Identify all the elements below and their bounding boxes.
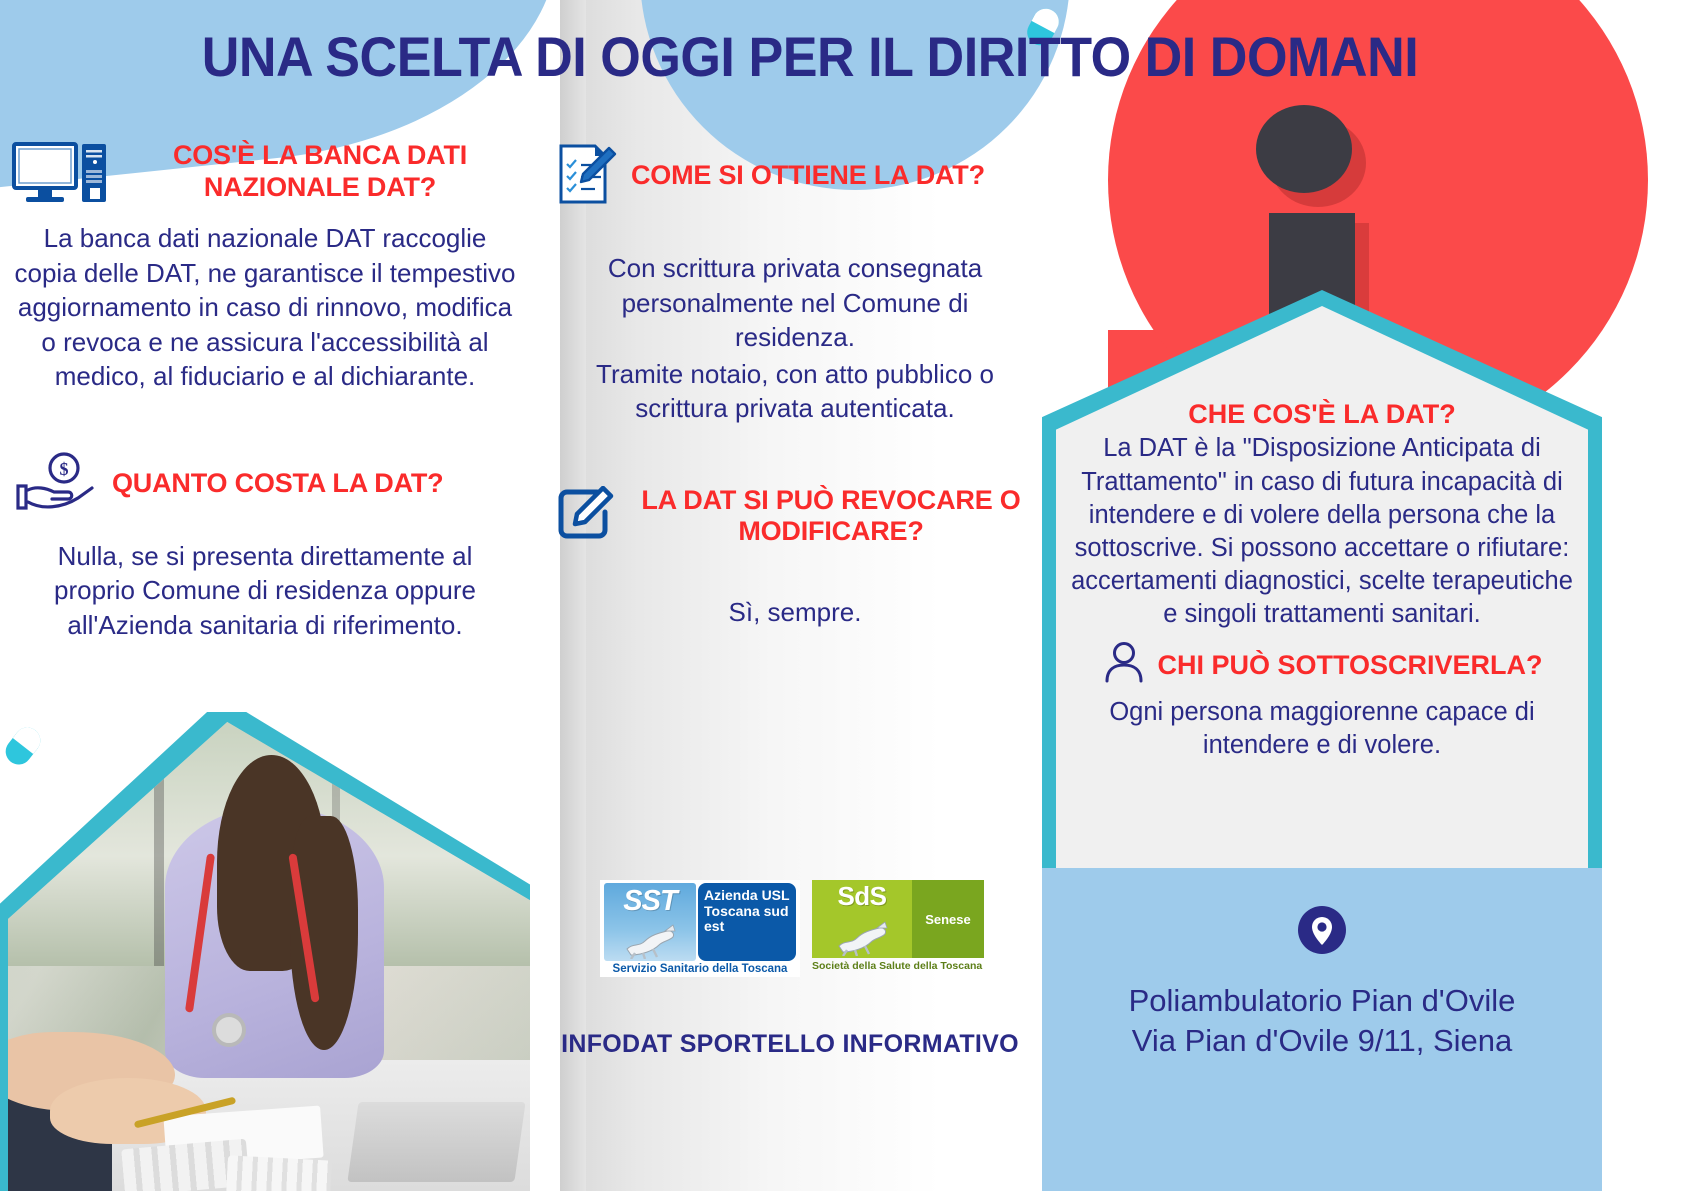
photo-pill-blister-2: [226, 1155, 332, 1191]
hand-holding-money-icon: $: [12, 450, 98, 517]
right-panel-content: CHE COS'È LA DAT? La DAT è la "Disposizi…: [1056, 398, 1588, 868]
logo-sds-mark-text: SdS: [837, 881, 886, 912]
left-section-1-heading: COS'È LA BANCA DATI NAZIONALE DAT?: [122, 140, 518, 204]
logo-sst-tagline: Servizio Sanitario della Toscana: [613, 963, 788, 975]
left-section-1-body: La banca dati nazionale DAT raccoglie co…: [0, 209, 530, 394]
right-panel-sub-heading: CHI PUÒ SOTTOSCRIVERLA?: [1157, 649, 1542, 681]
mid-section-1-heading: COME SI OTTIENE LA DAT?: [631, 159, 985, 191]
left-column: COS'È LA BANCA DATI NAZIONALE DAT? La ba…: [0, 140, 530, 643]
logo-sds-mark: SdS: [812, 880, 912, 958]
mid-section-1-header: COME SI OTTIENE LA DAT?: [545, 140, 1045, 211]
address-block: Poliambulatorio Pian d'Ovile Via Pian d'…: [1042, 880, 1602, 1180]
logo-sds-row: SdS Senese: [812, 880, 984, 958]
left-section-1-header: COS'È LA BANCA DATI NAZIONALE DAT?: [0, 140, 530, 209]
mid-section-1-body-line2: Tramite notaio, con atto pubblico o scri…: [545, 355, 1045, 426]
footer-note: INFODAT SPORTELLO INFORMATIVO: [540, 1030, 1040, 1059]
right-panel-heading: CHE COS'È LA DAT?: [1066, 398, 1578, 430]
right-panel-sub-header: CHI PUÒ SOTTOSCRIVERLA?: [1066, 639, 1578, 690]
mid-section-2-heading: LA DAT SI PUÒ REVOCARE O MODIFICARE?: [629, 485, 1033, 549]
brochure-poster: UNA SCELTA DI OGGI PER IL DIRITTO DI DOM…: [0, 0, 1684, 1191]
desktop-computer-icon: [12, 140, 108, 209]
logo-sst-name: Azienda USL Toscana sud est: [698, 883, 796, 961]
photo-stethoscope-bell: [212, 1013, 246, 1047]
photo-laptop: [347, 1102, 525, 1182]
person-icon: [1101, 639, 1147, 690]
mid-column: COME SI OTTIENE LA DAT? Con scrittura pr…: [545, 140, 1045, 629]
mid-section-2-header: LA DAT SI PUÒ REVOCARE O MODIFICARE?: [545, 484, 1045, 549]
left-section-2-body: Nulla, se si presenta direttamente al pr…: [0, 517, 530, 643]
logo-sds-tagline: Società della Salute della Toscana: [812, 960, 984, 972]
right-panel-body: La DAT è la "Disposizione Anticipata di …: [1066, 430, 1578, 631]
info-dot: [1256, 105, 1352, 193]
address-line-1: Poliambulatorio Pian d'Ovile: [1042, 967, 1602, 1021]
left-section-2-heading: QUANTO COSTA LA DAT?: [112, 467, 443, 499]
partner-logos: SST Azienda USL Toscana sud est Servizio…: [600, 880, 980, 990]
location-pin-icon: [1292, 949, 1352, 966]
logo-sst: SST Azienda USL Toscana sud est Servizio…: [600, 880, 800, 977]
svg-text:$: $: [60, 459, 69, 479]
pegasus-icon-sst: [619, 917, 681, 959]
logo-sds-name: Senese: [912, 880, 984, 958]
mid-section-2-body: Sì, sempre.: [545, 549, 1045, 630]
doctor-patient-photo: [0, 712, 530, 1191]
right-panel-sub-body: Ogni persona maggiorenne capace di inten…: [1066, 690, 1578, 762]
mid-section-1-body-line1: Con scrittura privata consegnata persona…: [545, 211, 1045, 355]
clipboard-pencil-icon: [557, 140, 617, 211]
edit-square-icon: [557, 484, 615, 549]
page-title: UNA SCELTA DI OGGI PER IL DIRITTO DI DOM…: [57, 24, 1564, 89]
logo-sst-row: SST Azienda USL Toscana sud est: [604, 883, 796, 961]
left-section-2-header: $ QUANTO COSTA LA DAT?: [0, 450, 530, 517]
logo-sst-mark-text: SST: [623, 885, 676, 918]
logo-sst-mark: SST: [604, 883, 696, 961]
address-line-2: Via Pian d'Ovile 9/11, Siena: [1042, 1021, 1602, 1061]
pegasus-icon-sds: [831, 914, 893, 956]
logo-sds: SdS Senese Società della Salute della To…: [812, 880, 984, 972]
photo-image: [8, 722, 530, 1191]
